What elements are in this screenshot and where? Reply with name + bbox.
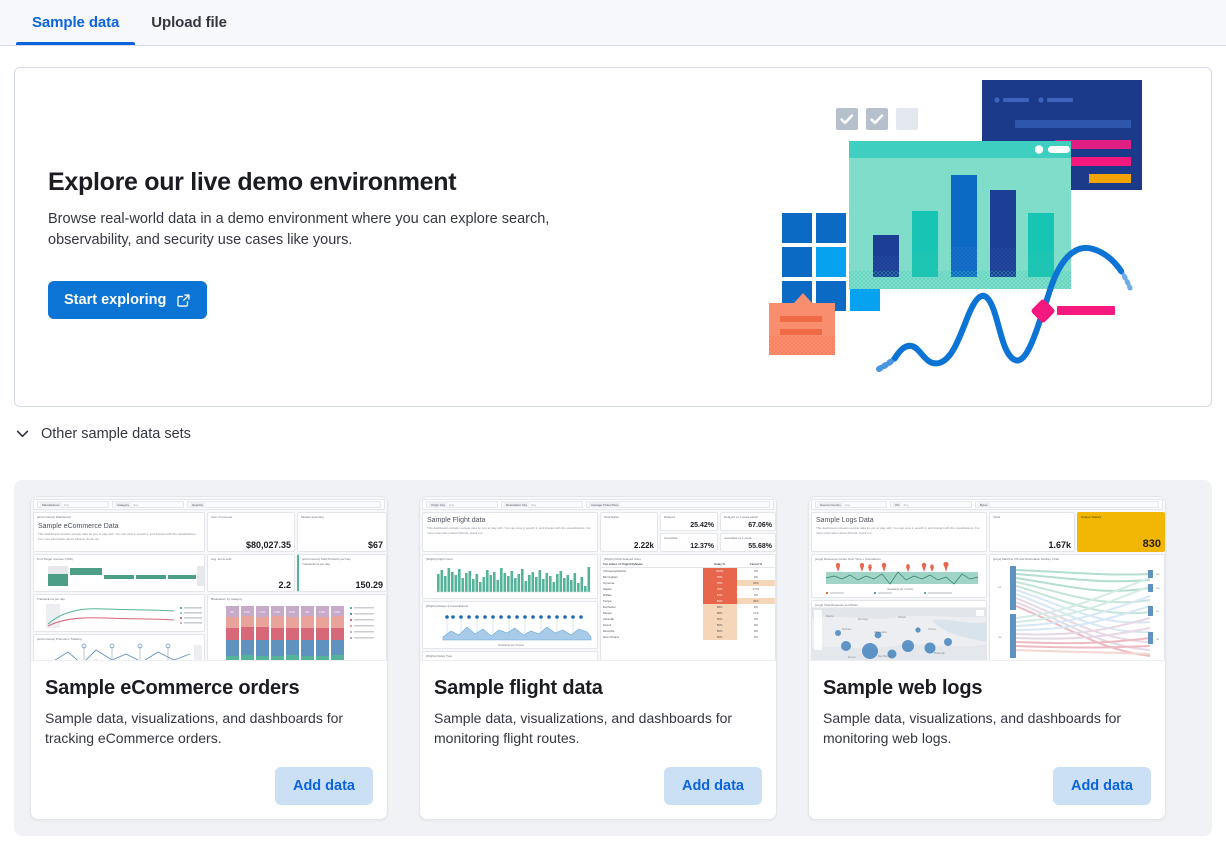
thumb-metric-panel: Visits 1.67k	[989, 512, 1075, 552]
sample-data-card-list: ManufacturerAny CategoryAny Quantity [eC…	[14, 480, 1212, 836]
add-data-button-weblogs[interactable]: Add data	[1053, 767, 1151, 805]
table-cell: 56%	[703, 634, 737, 640]
start-exploring-button[interactable]: Start exploring	[48, 281, 207, 319]
thumb-control-value: Any	[901, 503, 908, 507]
sample-data-card-ecommerce[interactable]: ManufacturerAny CategoryAny Quantity [eC…	[30, 496, 388, 820]
data-dashboard-illustration	[769, 68, 1169, 407]
svg-text:Montana: Montana	[842, 628, 852, 631]
thumb-control-label: Bytes	[978, 501, 990, 508]
thumb-dashboard-text: This dashboard contains sample data for …	[812, 526, 986, 535]
thumb-metric-label: Delayed	[661, 513, 717, 519]
svg-text:osx: osx	[1156, 587, 1161, 590]
thumb-metric-value: 830	[1143, 538, 1161, 550]
card-description: Sample data, visualizations, and dashboa…	[45, 708, 373, 748]
thumb-panel-title: [Flights] Delay Type	[423, 652, 597, 658]
thumb-metric-label: Cancelled	[661, 534, 717, 540]
table-cell: New Orleans	[601, 634, 703, 640]
table-row: New Orleans56%0%	[601, 634, 775, 640]
thumb-metric-panel: Delayed 25.42%	[660, 512, 718, 531]
svg-text:8.6%: 8.6%	[244, 610, 251, 614]
thumb-stacked-bar-panel: Breakdown by category	[207, 594, 387, 661]
card-title: Sample flight data	[434, 677, 762, 700]
other-sample-data-sets-toggle[interactable]: Other sample data sets	[14, 425, 191, 442]
table-cell: 0%	[737, 634, 775, 640]
svg-text:ios: ios	[1156, 610, 1160, 613]
svg-text:7.1%: 7.1%	[259, 610, 266, 614]
tab-bar: Sample data Upload file	[0, 0, 1226, 46]
thumb-control-bar: ManufacturerAny CategoryAny Quantity	[33, 499, 385, 510]
thumb-panel-title: [Logs] Total Requests and Bytes	[812, 601, 986, 607]
svg-text:Ontario: Ontario	[898, 616, 907, 619]
thumb-control-value: Any	[529, 503, 536, 507]
thumb-control-label: Quantity	[190, 501, 205, 508]
thumb-metric-label: Total flights	[601, 513, 657, 519]
thumb-panel-title: [Flights] Delays & Cancellations	[423, 602, 597, 608]
weblogs-dashboard-thumbnail: Source CountryAny OSAny Bytes Sample Log…	[809, 497, 1165, 661]
thumb-control-value: Any	[62, 503, 69, 507]
svg-text:ios: ios	[998, 586, 1002, 589]
svg-text:Des Moines: Des Moines	[878, 655, 891, 658]
add-data-button-flight[interactable]: Add data	[664, 767, 762, 805]
teal-chart-window-illustration	[849, 141, 1071, 289]
thumb-metric-value: $80,027.35	[246, 540, 291, 550]
flight-dashboard-thumbnail: Origin CityAny Destination CityAny Avera…	[420, 497, 776, 661]
thumb-panel-title: [Logs] Response Codes Over Time + Annota…	[812, 555, 986, 561]
start-exploring-label: Start exploring	[64, 292, 166, 308]
thumb-dashboard-title: Sample Flight data	[423, 513, 597, 526]
svg-text:timestamp per 3 hours: timestamp per 3 hours	[498, 643, 525, 647]
card-footer: Add data	[31, 767, 387, 819]
thumb-panel-title: [eCommerce] Promotion Tracking	[34, 635, 204, 641]
thumb-metric-value: 67.06%	[748, 522, 772, 529]
thumb-map-panel: [Logs] Total Requests and Bytes	[811, 600, 987, 661]
thumb-metric-value: $67	[368, 540, 383, 550]
card-body: Sample eCommerce orders Sample data, vis…	[31, 661, 387, 767]
card-description: Sample data, visualizations, and dashboa…	[434, 708, 762, 748]
thumb-panel-title: [Flights] Flight count	[423, 555, 597, 561]
thumb-panel-title: [Logs] Machine OS and Destination Sankey…	[990, 555, 1164, 561]
thumb-panel-title: % of Target revenue (USD)	[34, 555, 204, 561]
thumb-metric-label: Avg. items sold	[208, 555, 294, 561]
thumb-metric-value: 55.68%	[748, 543, 772, 550]
tab-upload-file[interactable]: Upload file	[135, 0, 243, 45]
thumb-control-value: Any	[843, 503, 850, 507]
thumb-control-label: OS	[893, 501, 901, 508]
thumb-metric-panel: Total flights 2.22k	[600, 512, 658, 552]
thumb-metric-panel: Delayed vs 1 week earlier 67.06%	[720, 512, 776, 531]
thumb-metric-value: 12.37%	[690, 543, 714, 550]
thumb-metric-label: Sum of revenue	[208, 513, 294, 519]
thumb-dashboard-text: This dashboard contains sample data for …	[34, 532, 204, 541]
thumb-metric-label: Transactions per day	[299, 561, 386, 566]
card-title: Sample web logs	[823, 677, 1151, 700]
svg-text:3.8%: 3.8%	[334, 610, 341, 614]
demo-environment-hero: Explore our live demo environment Browse…	[14, 67, 1212, 407]
thumb-metric-value: 2.2	[278, 580, 291, 590]
hero-subtitle: Browse real-world data in a demo environ…	[48, 209, 578, 251]
thumb-metric-value: 150.29	[355, 580, 383, 590]
thumb-area-chart-panel: [Flights] Delays & Cancellations	[422, 601, 598, 649]
thumb-metric-panel-highlight: Unique Visitors 830	[1077, 512, 1165, 552]
thumb-control-bar: Origin CityAny Destination CityAny Avera…	[422, 499, 774, 510]
thumb-control-label: Average Ticket Price	[589, 501, 620, 508]
thumb-control-label: Destination City	[504, 501, 529, 508]
thumb-dashboard-text: This dashboard contains sample data for …	[423, 526, 597, 535]
thumb-metric-value: 2.22k	[634, 541, 654, 550]
thumb-metric-label: Unique Visitors	[1078, 513, 1164, 519]
thumb-chart-panel: Transactions per day	[33, 594, 205, 632]
hero-text-block: Explore our live demo environment Browse…	[48, 168, 608, 319]
thumb-control-value: Any	[131, 503, 138, 507]
tab-sample-data[interactable]: Sample data	[16, 0, 135, 45]
card-description: Sample data, visualizations, and dashboa…	[823, 708, 1151, 748]
thumb-table: Top values of OriginCityName Delay % Can…	[601, 561, 775, 640]
thumb-sankey-panel: [Logs] Machine OS and Destination Sankey…	[989, 554, 1165, 661]
thumb-control-bar: Source CountryAny OSAny Bytes	[811, 499, 1163, 510]
svg-text:3.5%: 3.5%	[319, 610, 326, 614]
svg-text:Winnipeg: Winnipeg	[858, 618, 869, 621]
svg-text:Minneapolis: Minneapolis	[874, 631, 888, 634]
card-body: Sample web logs Sample data, visualizati…	[809, 661, 1165, 767]
thumb-panel-title: Transactions per day	[34, 595, 204, 601]
sample-data-card-flight[interactable]: Origin CityAny Destination CityAny Avera…	[419, 496, 777, 820]
card-footer: Add data	[420, 767, 776, 819]
thumb-metric-value: 1.67k	[1048, 540, 1071, 550]
thumb-metric-panel: Cancelled vs 1 week... 55.68%	[720, 533, 776, 552]
card-body: Sample flight data Sample data, visualiz…	[420, 661, 776, 767]
thumb-dashboard-title: Sample eCommerce Data	[34, 519, 204, 532]
svg-text:Pittsburgh: Pittsburgh	[934, 652, 945, 655]
svg-text:1.8%: 1.8%	[274, 610, 281, 614]
thumb-markdown-panel: [eCommerce] Dashboard Sample eCommerce D…	[33, 512, 205, 552]
thumb-metric-label: Visits	[990, 513, 1074, 519]
page-title: Explore our live demo environment	[48, 168, 608, 197]
thumb-histogram-panel: [Flights] Flight count	[422, 554, 598, 599]
svg-text:Denver: Denver	[848, 656, 856, 659]
thumb-control-label: Manufacturer	[40, 501, 62, 508]
svg-text:Toronto: Toronto	[928, 628, 937, 631]
thumb-metric-label: Median spending	[298, 513, 386, 519]
thumb-metric-value: 25.42%	[690, 522, 714, 529]
thumb-table-panel: [Flights] Most delayed cities Top values…	[600, 554, 776, 661]
ecommerce-dashboard-thumbnail: ManufacturerAny CategoryAny Quantity [eC…	[31, 497, 387, 661]
external-link-icon	[176, 293, 191, 308]
add-data-button-ecommerce[interactable]: Add data	[275, 767, 373, 805]
thumb-metric-panel: Median spending $67	[297, 512, 387, 552]
thumb-metric-panel: [eCommerce] Sold Products per Day Transa…	[297, 554, 387, 592]
checkbox-row-illustration	[836, 108, 918, 130]
thumb-metric-label: Cancelled vs 1 week...	[721, 534, 775, 540]
thumb-control-label: Origin City	[429, 501, 447, 508]
thumb-metric-panel: Cancelled 12.37%	[660, 533, 718, 552]
thumb-control-value: Any	[447, 503, 454, 507]
svg-text:5.6%: 5.6%	[289, 610, 296, 614]
thumb-chart-panel: [Flights] Delay Type	[422, 651, 598, 661]
thumb-chart-panel: % of Target revenue (USD)	[33, 554, 205, 592]
add-data-page: Sample data Upload file Explore our live…	[0, 0, 1226, 841]
thumb-annotations-panel: [Logs] Response Codes Over Time + Annota…	[811, 554, 987, 598]
thumb-markdown-panel: Sample Logs Data This dashboard contains…	[811, 512, 987, 552]
thumb-control-label: Category	[115, 501, 131, 508]
thumb-markdown-panel: Sample Flight data This dashboard contai…	[422, 512, 598, 552]
chevron-down-icon	[14, 425, 31, 442]
card-title: Sample eCommerce orders	[45, 677, 373, 700]
svg-text:osx: osx	[998, 636, 1003, 639]
thumb-control-label: Source Country	[818, 501, 843, 508]
svg-text:nix: nix	[1156, 638, 1160, 641]
card-footer: Add data	[809, 767, 1165, 819]
svg-text:Regina: Regina	[826, 615, 834, 618]
thumb-chart-panel: [eCommerce] Promotion Tracking	[33, 634, 205, 661]
thumb-panel-title: Breakdown by category	[208, 595, 386, 601]
thumb-axis-label: timestamp per 3 hours	[887, 587, 914, 591]
thumb-metric-label: Delayed vs 1 week earlier	[721, 513, 775, 519]
other-sample-data-sets-label: Other sample data sets	[41, 426, 191, 442]
thumb-dashboard-title: Sample Logs Data	[812, 513, 986, 526]
sample-data-card-weblogs[interactable]: Source CountryAny OSAny Bytes Sample Log…	[808, 496, 1166, 820]
svg-text:win: win	[1156, 573, 1160, 576]
thumb-metric-panel: Sum of revenue $80,027.35	[207, 512, 295, 552]
thumb-metric-panel: Avg. items sold 2.2	[207, 554, 295, 592]
